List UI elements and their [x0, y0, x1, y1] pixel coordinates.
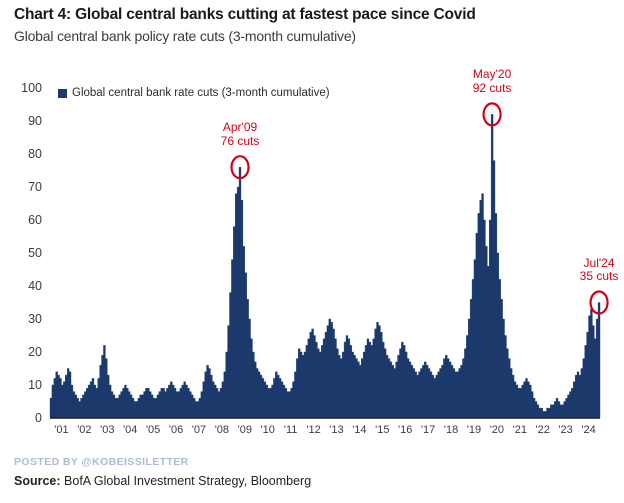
posted-by-credit: POSTED BY @KOBEISSILETTER	[14, 456, 189, 468]
source-label: Source:	[14, 474, 61, 488]
page-title: Chart 4: Global central banks cutting at…	[14, 6, 614, 24]
annotation-text-may20: May'2092 cuts	[473, 68, 512, 95]
series-area-path	[50, 114, 600, 418]
annotation-date-jul24: Jul'24	[580, 257, 619, 270]
annotation-value-apr09: 76 cuts	[221, 135, 260, 148]
annotation-date-may20: May'20	[473, 68, 512, 81]
source-text: BofA Global Investment Strategy, Bloombe…	[64, 474, 311, 488]
series-area-group	[50, 114, 600, 418]
annotation-date-apr09: Apr'09	[221, 121, 260, 134]
chart-plot-area: Global central bank rate cuts (3-month c…	[0, 60, 624, 450]
annotation-text-jul24: Jul'2435 cuts	[580, 257, 619, 284]
annotation-text-apr09: Apr'0976 cuts	[221, 121, 260, 148]
source-note: Source: BofA Global Investment Strategy,…	[14, 474, 311, 488]
page-subtitle: Global central bank policy rate cuts (3-…	[14, 28, 614, 44]
annotation-value-jul24: 35 cuts	[580, 270, 619, 283]
annotation-value-may20: 92 cuts	[473, 82, 512, 95]
annotation-markers	[232, 103, 608, 313]
chart-svg	[0, 60, 624, 450]
